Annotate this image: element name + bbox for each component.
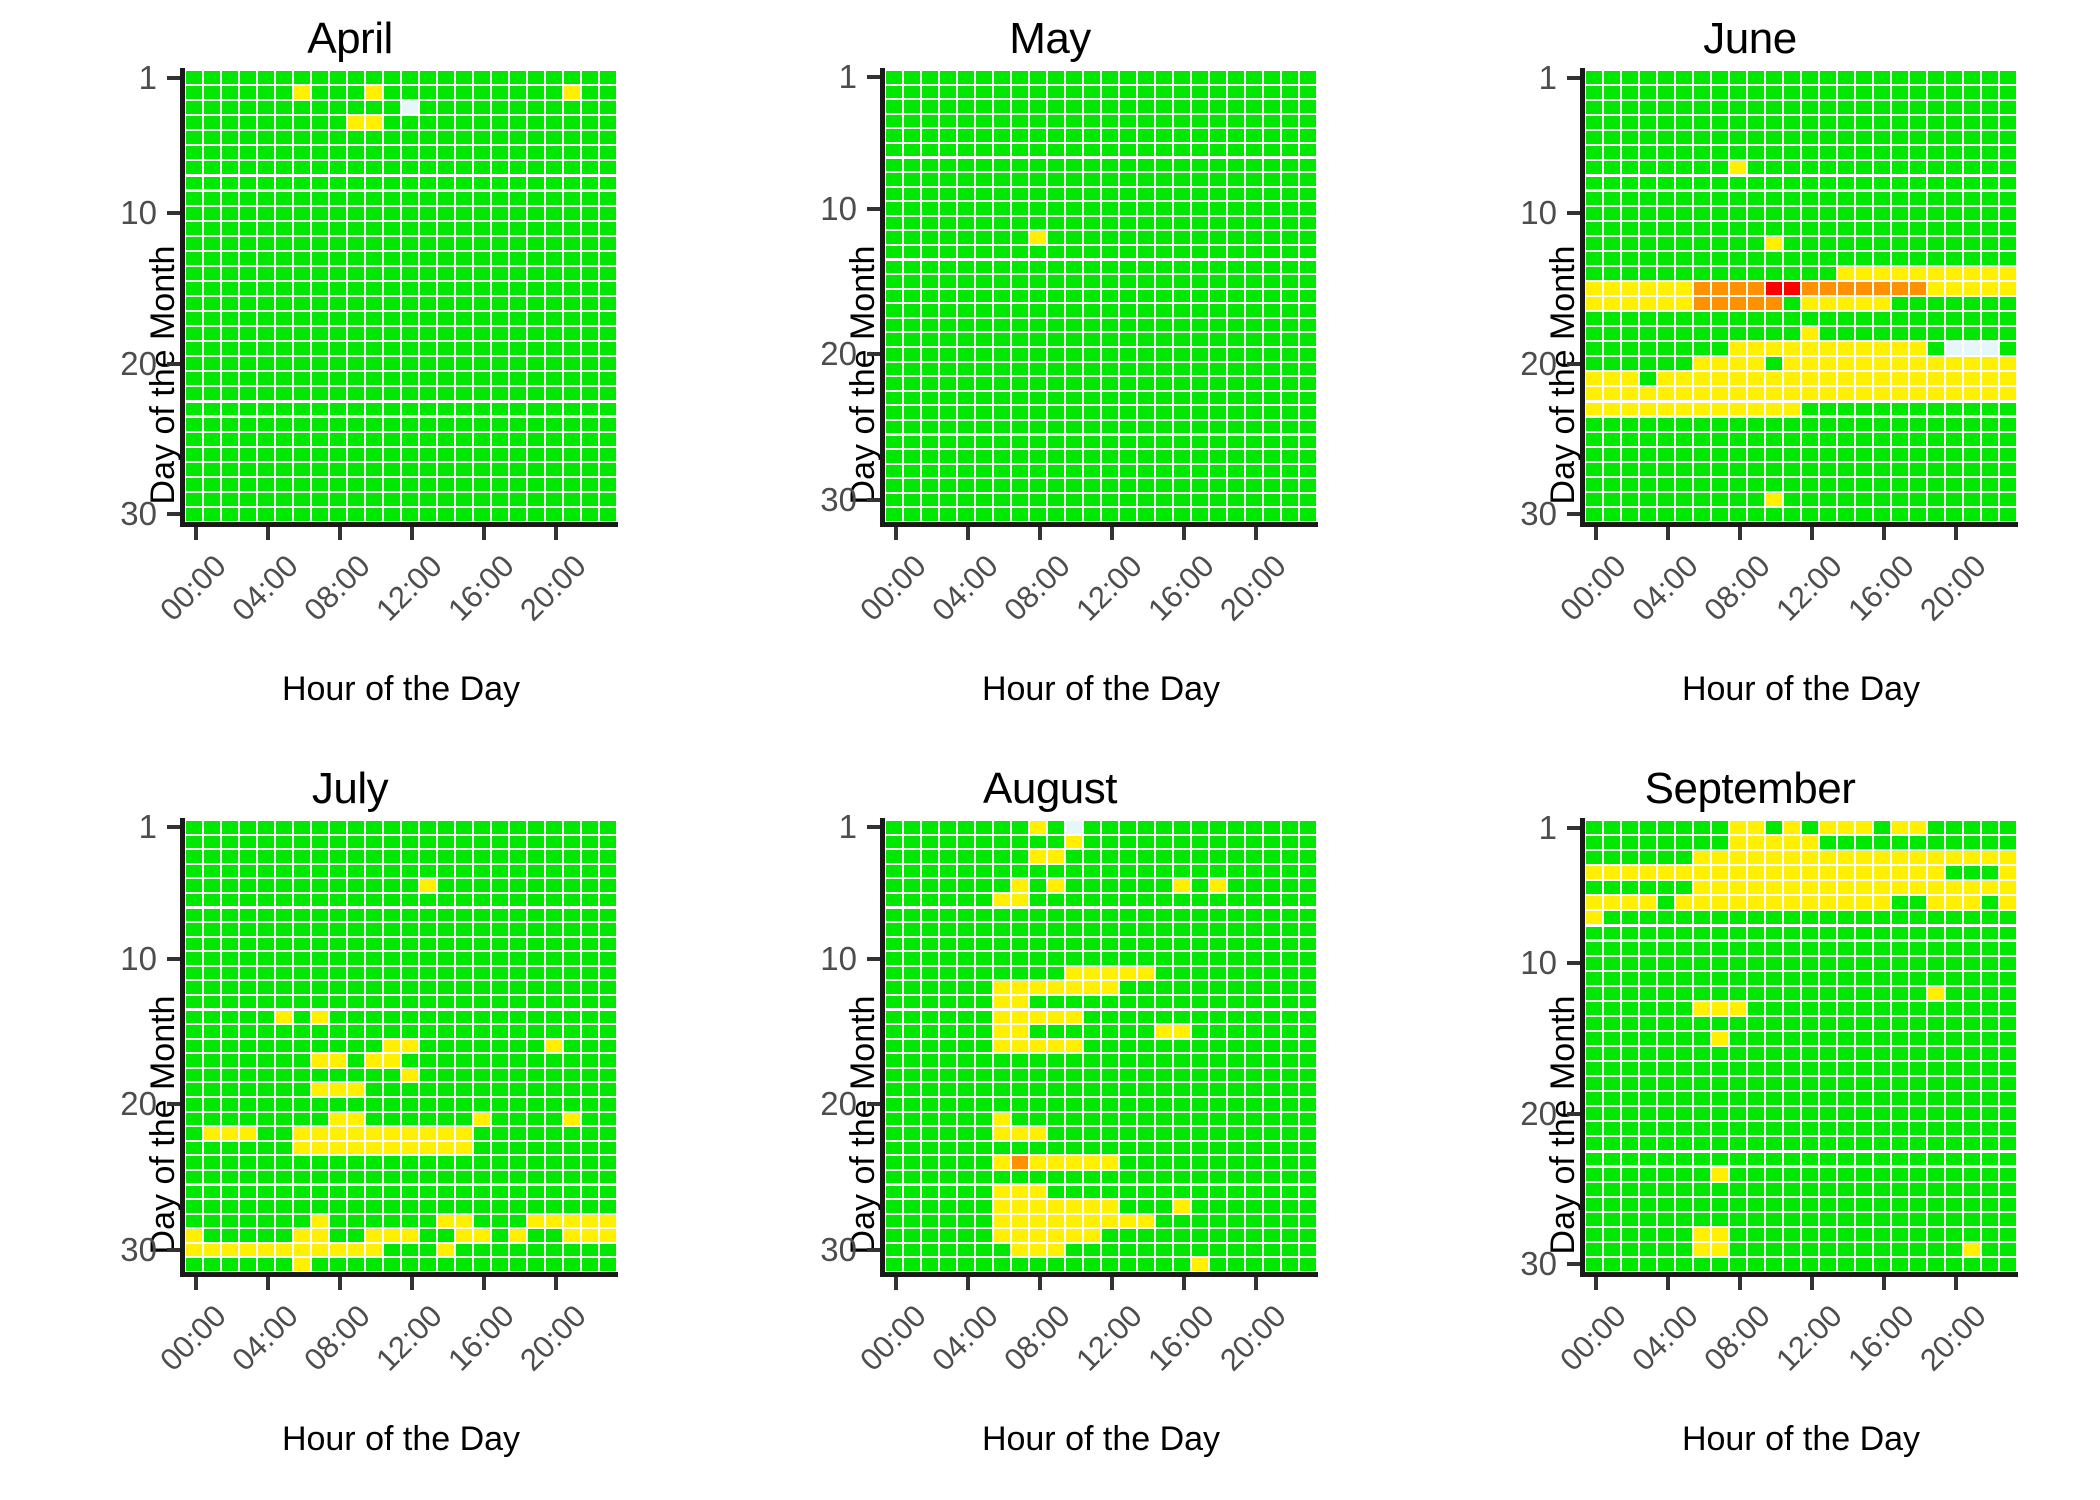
heatmap-row (885, 478, 1317, 493)
heatmap-cell (958, 290, 974, 302)
heatmap-row (185, 296, 617, 311)
heatmap-cell (1066, 879, 1082, 891)
heatmap-cell (1838, 403, 1854, 416)
heatmap-cell (1604, 463, 1620, 476)
heatmap-cell (1964, 821, 1980, 834)
heatmap-cell (474, 1156, 490, 1168)
heatmap-cell (1928, 1198, 1944, 1211)
heatmap-cell (1802, 207, 1818, 220)
heatmap-cell (1730, 101, 1746, 114)
x-tick-mark (894, 527, 898, 540)
heatmap-cell (1048, 450, 1064, 462)
heatmap-cell (366, 1025, 382, 1037)
heatmap-cell (1640, 1243, 1656, 1256)
heatmap-cell (1586, 1243, 1602, 1256)
heatmap-cell (1120, 1127, 1136, 1139)
heatmap-cell (492, 146, 508, 159)
heatmap-cell (1174, 494, 1190, 506)
heatmap-cell (1820, 1032, 1836, 1045)
heatmap-cell (1820, 896, 1836, 909)
heatmap-cell (240, 463, 256, 476)
heatmap-cell (1604, 192, 1620, 205)
heatmap-cell (2000, 493, 2016, 506)
heatmap-cell (1300, 202, 1316, 214)
heatmap-cell (1712, 1032, 1728, 1045)
heatmap-cell (1712, 1198, 1728, 1211)
heatmap-plot-area (185, 820, 617, 1272)
heatmap-cell (1246, 392, 1262, 404)
heatmap-cell (1586, 1107, 1602, 1120)
heatmap-cell (1928, 177, 1944, 190)
heatmap-cell (1264, 304, 1280, 316)
heatmap-cell (402, 207, 418, 220)
heatmap-cell (1640, 146, 1656, 159)
heatmap-cell (402, 1156, 418, 1168)
heatmap-cell (474, 357, 490, 370)
heatmap-cell (1174, 1215, 1190, 1227)
heatmap-cell (1066, 981, 1082, 993)
heatmap-cell (1856, 297, 1872, 310)
heatmap-cell (1228, 865, 1244, 877)
heatmap-cell (922, 865, 938, 877)
heatmap-cell (1604, 177, 1620, 190)
heatmap-cell (186, 1186, 202, 1198)
y-tick-mark (1567, 826, 1580, 830)
heatmap-cell (1712, 821, 1728, 834)
heatmap-cell (1946, 101, 1962, 114)
heatmap-cell (1838, 327, 1854, 340)
heatmap-cell (258, 1113, 274, 1125)
heatmap-cell (330, 909, 346, 921)
heatmap-cell (600, 463, 616, 476)
heatmap-cell (420, 448, 436, 461)
heatmap-cell (1622, 881, 1638, 894)
heatmap-cell (258, 923, 274, 935)
heatmap-cell (1730, 1137, 1746, 1150)
heatmap-cell (1586, 881, 1602, 894)
heatmap-cell (582, 1229, 598, 1241)
heatmap-cell (474, 478, 490, 491)
heatmap-cell (1282, 967, 1298, 979)
heatmap-cell (1192, 938, 1208, 950)
heatmap-cell (564, 342, 580, 355)
heatmap-cell (1246, 836, 1262, 848)
heatmap-cell (546, 821, 562, 833)
heatmap-cell (1012, 188, 1028, 200)
heatmap-cell (994, 1200, 1010, 1212)
heatmap-cell (976, 333, 992, 345)
heatmap-cell (1066, 144, 1082, 156)
heatmap-cell (456, 821, 472, 833)
heatmap-cell (1838, 1002, 1854, 1015)
heatmap-cell (1084, 850, 1100, 862)
heatmap-cell (384, 433, 400, 446)
heatmap-cell (1012, 1244, 1028, 1256)
heatmap-cell (1084, 923, 1100, 935)
heatmap-cell (1730, 297, 1746, 310)
heatmap-cell (1982, 357, 1998, 370)
heatmap-cell (1676, 357, 1692, 370)
heatmap-cell (1246, 304, 1262, 316)
heatmap-cell (492, 71, 508, 84)
heatmap-cell (564, 297, 580, 310)
heatmap-cell (1030, 1083, 1046, 1095)
heatmap-cell (1084, 202, 1100, 214)
heatmap-cell (1012, 923, 1028, 935)
heatmap-cell (1084, 479, 1100, 491)
heatmap-cell (1838, 146, 1854, 159)
heatmap-cell (1874, 1002, 1890, 1015)
heatmap-cell (1892, 987, 1908, 1000)
heatmap-cell (1282, 290, 1298, 302)
heatmap-cell (276, 418, 292, 431)
heatmap-cell (1138, 1258, 1154, 1270)
heatmap-cell (886, 1229, 902, 1241)
heatmap-cell (2000, 1122, 2016, 1135)
heatmap-cell (276, 1025, 292, 1037)
heatmap-cell (384, 508, 400, 521)
heatmap-cell (886, 246, 902, 258)
heatmap-cell (456, 131, 472, 144)
heatmap-cell (994, 967, 1010, 979)
heatmap-cell (1766, 357, 1782, 370)
heatmap-cell (1282, 1244, 1298, 1256)
heatmap-cell (1748, 1017, 1764, 1030)
heatmap-cell (492, 312, 508, 325)
heatmap-cell (886, 421, 902, 433)
y-tick-mark (167, 1102, 180, 1106)
heatmap-cell (1246, 144, 1262, 156)
heatmap-cell (384, 996, 400, 1008)
heatmap-cell (940, 1127, 956, 1139)
heatmap-cell (474, 86, 490, 99)
heatmap-cell (1658, 387, 1674, 400)
heatmap-cell (1192, 879, 1208, 891)
heatmap-cell (438, 448, 454, 461)
heatmap-cell (1192, 821, 1208, 833)
heatmap-cell (312, 312, 328, 325)
heatmap-cell (1928, 252, 1944, 265)
heatmap-cell (384, 1186, 400, 1198)
heatmap-cell (1102, 1156, 1118, 1168)
heatmap-cell (564, 1244, 580, 1256)
heatmap-cell (1892, 1002, 1908, 1015)
heatmap-cell (1928, 821, 1944, 834)
heatmap-cell (1622, 1137, 1638, 1150)
heatmap-cell (1174, 894, 1190, 906)
heatmap-cell (1748, 1107, 1764, 1120)
heatmap-cell (1210, 86, 1226, 98)
heatmap-cell (240, 1025, 256, 1037)
heatmap-cell (384, 372, 400, 385)
heatmap-cell (1120, 1011, 1136, 1023)
heatmap-cell (1712, 1137, 1728, 1150)
heatmap-cell (1802, 342, 1818, 355)
heatmap-cell (1156, 348, 1172, 360)
heatmap-cell (1856, 342, 1872, 355)
heatmap-cell (1102, 1113, 1118, 1125)
heatmap-cell (904, 981, 920, 993)
heatmap-cell (1838, 357, 1854, 370)
heatmap-cell (1246, 938, 1262, 950)
heatmap-cell (222, 267, 238, 280)
heatmap-cell (564, 508, 580, 521)
heatmap-cell (330, 312, 346, 325)
heatmap-cell (1228, 86, 1244, 98)
heatmap-cell (1838, 1153, 1854, 1166)
heatmap-cell (904, 290, 920, 302)
heatmap-cell (1820, 387, 1836, 400)
heatmap-cell (994, 1229, 1010, 1241)
heatmap-cell (1928, 71, 1944, 84)
x-axis-line (1580, 1272, 2018, 1277)
heatmap-cell (438, 86, 454, 99)
heatmap-cell (1282, 304, 1298, 316)
heatmap-cell (958, 1098, 974, 1110)
heatmap-cell (1210, 319, 1226, 331)
y-tick-label: 10 (700, 940, 857, 978)
heatmap-cell (438, 192, 454, 205)
heatmap-cell (1622, 131, 1638, 144)
heatmap-cell (1892, 1047, 1908, 1060)
heatmap-cell (1640, 101, 1656, 114)
heatmap-cell (186, 372, 202, 385)
heatmap-cell (204, 131, 220, 144)
heatmap-cell (1676, 1077, 1692, 1090)
heatmap-cell (366, 372, 382, 385)
heatmap-cell (1748, 71, 1764, 84)
heatmap-cell (1694, 851, 1710, 864)
heatmap-cell (222, 282, 238, 295)
heatmap-cell (1012, 879, 1028, 891)
heatmap-cell (1300, 319, 1316, 331)
heatmap-cell (222, 1258, 238, 1270)
heatmap-cell (510, 478, 526, 491)
heatmap-cell (402, 821, 418, 833)
heatmap-cell (438, 508, 454, 521)
heatmap-cell (976, 217, 992, 229)
heatmap-cell (1264, 1171, 1280, 1183)
heatmap-cell (420, 1244, 436, 1256)
heatmap-cell (2000, 297, 2016, 310)
heatmap-cell (456, 1258, 472, 1270)
heatmap-cell (1264, 894, 1280, 906)
heatmap-cell (1192, 246, 1208, 258)
heatmap-cell (1174, 100, 1190, 112)
heatmap-cell (2000, 1228, 2016, 1241)
heatmap-cell (976, 508, 992, 520)
heatmap-cell (958, 1127, 974, 1139)
heatmap-cell (1048, 363, 1064, 375)
heatmap-cell (1192, 71, 1208, 83)
heatmap-cell (1102, 1244, 1118, 1256)
heatmap-cell (294, 952, 310, 964)
heatmap-cell (312, 207, 328, 220)
heatmap-cell (1138, 1200, 1154, 1212)
heatmap-cell (330, 923, 346, 935)
heatmap-cell (600, 1200, 616, 1212)
heatmap-cell (1712, 508, 1728, 521)
heatmap-cell (204, 1171, 220, 1183)
heatmap-cell (420, 981, 436, 993)
heatmap-cell (222, 836, 238, 848)
heatmap-cell (1282, 865, 1298, 877)
heatmap-cell (922, 465, 938, 477)
heatmap-cell (1964, 972, 1980, 985)
heatmap-row (1585, 895, 2017, 910)
heatmap-cell (204, 448, 220, 461)
heatmap-cell (384, 879, 400, 891)
heatmap-cell (1282, 1156, 1298, 1168)
heatmap-cell (1066, 1200, 1082, 1212)
heatmap-cell (258, 1025, 274, 1037)
heatmap-cell (330, 996, 346, 1008)
heatmap-cell (958, 392, 974, 404)
heatmap-cell (420, 996, 436, 1008)
heatmap-cell (1048, 1011, 1064, 1023)
heatmap-cell (1784, 1213, 1800, 1226)
heatmap-cell (886, 909, 902, 921)
heatmap-cell (1784, 131, 1800, 144)
heatmap-cell (1640, 312, 1656, 325)
heatmap-row (885, 362, 1317, 377)
heatmap-cell (600, 1215, 616, 1227)
heatmap-row (885, 1257, 1317, 1272)
heatmap-cell (1784, 192, 1800, 205)
heatmap-cell (1892, 146, 1908, 159)
heatmap-cell (1910, 418, 1926, 431)
heatmap-cell (1300, 1025, 1316, 1037)
heatmap-cell (1802, 86, 1818, 99)
heatmap-cell (922, 173, 938, 185)
heatmap-cell (1820, 146, 1836, 159)
heatmap-cell (186, 821, 202, 833)
heatmap-cell (510, 1215, 526, 1227)
heatmap-cell (1802, 957, 1818, 970)
heatmap-cell (1156, 850, 1172, 862)
heatmap-cell (1640, 192, 1656, 205)
heatmap-cell (402, 879, 418, 891)
heatmap-cell (1658, 252, 1674, 265)
heatmap-cell (510, 1171, 526, 1183)
heatmap-cell (492, 297, 508, 310)
heatmap-cell (1030, 952, 1046, 964)
heatmap-cell (1174, 173, 1190, 185)
heatmap-cell (456, 161, 472, 174)
heatmap-cell (276, 222, 292, 235)
heatmap-cell (528, 312, 544, 325)
heatmap-cell (1604, 237, 1620, 250)
heatmap-cell (366, 463, 382, 476)
heatmap-cell (1946, 1062, 1962, 1075)
heatmap-cell (958, 100, 974, 112)
heatmap-cell (1156, 967, 1172, 979)
heatmap-cell (1156, 71, 1172, 83)
heatmap-cell (1694, 146, 1710, 159)
heatmap-cell (1820, 1198, 1836, 1211)
x-tick-mark (554, 1277, 558, 1290)
heatmap-cell (1120, 923, 1136, 935)
heatmap-cell (1694, 896, 1710, 909)
heatmap-cell (258, 433, 274, 446)
heatmap-cell (1640, 493, 1656, 506)
heatmap-cell (1228, 377, 1244, 389)
heatmap-cell (1874, 1092, 1890, 1105)
heatmap-cell (1138, 923, 1154, 935)
heatmap-cell (1264, 465, 1280, 477)
heatmap-row (185, 417, 617, 432)
heatmap-cell (330, 967, 346, 979)
heatmap-cell (922, 1054, 938, 1066)
heatmap-cell (2000, 987, 2016, 1000)
heatmap-cell (546, 418, 562, 431)
heatmap-cell (402, 403, 418, 416)
heatmap-cell (1228, 1142, 1244, 1154)
x-tick-mark (1594, 527, 1598, 540)
heatmap-cell (1712, 448, 1728, 461)
heatmap-cell (1282, 1186, 1298, 1198)
heatmap-cell (294, 252, 310, 265)
heatmap-cell (922, 479, 938, 491)
heatmap-cell (1156, 86, 1172, 98)
heatmap-cell (456, 222, 472, 235)
heatmap-cell (474, 865, 490, 877)
heatmap-cell (1066, 465, 1082, 477)
heatmap-cell (420, 101, 436, 114)
heatmap-cell (1784, 282, 1800, 295)
heatmap-cell (222, 71, 238, 84)
heatmap-cell (1048, 202, 1064, 214)
heatmap-cell (1066, 363, 1082, 375)
heatmap-cell (204, 1054, 220, 1066)
heatmap-cell (1892, 881, 1908, 894)
heatmap-cell (1964, 1198, 1980, 1211)
heatmap-cell (2000, 1077, 2016, 1090)
heatmap-cell (204, 1142, 220, 1154)
heatmap-cell (1928, 433, 1944, 446)
heatmap-cell (1820, 1017, 1836, 1030)
heatmap-cell (420, 342, 436, 355)
heatmap-cell (258, 821, 274, 833)
heatmap-cell (1156, 261, 1172, 273)
heatmap-cell (420, 865, 436, 877)
heatmap-cell (312, 1229, 328, 1241)
heatmap-cell (366, 1083, 382, 1095)
heatmap-cell (294, 282, 310, 295)
heatmap-cell (1012, 1186, 1028, 1198)
heatmap-cell (1946, 116, 1962, 129)
y-tick-label: 20 (1400, 1095, 1557, 1133)
heatmap-cell (1192, 981, 1208, 993)
heatmap-cell (1622, 1168, 1638, 1181)
heatmap-cell (1838, 207, 1854, 220)
heatmap-cell (348, 1171, 364, 1183)
heatmap-row (1585, 341, 2017, 356)
heatmap-cell (1156, 1186, 1172, 1198)
heatmap-cell (294, 1171, 310, 1183)
heatmap-cell (1946, 942, 1962, 955)
heatmap-cell (546, 1054, 562, 1066)
heatmap-cell (886, 319, 902, 331)
heatmap-cell (1892, 222, 1908, 235)
heatmap-cell (1048, 1142, 1064, 1154)
heatmap-cell (1138, 319, 1154, 331)
heatmap-cell (1586, 131, 1602, 144)
heatmap-cell (546, 267, 562, 280)
heatmap-cell (1856, 1168, 1872, 1181)
heatmap-cell (1246, 894, 1262, 906)
heatmap-cell (1676, 1198, 1692, 1211)
